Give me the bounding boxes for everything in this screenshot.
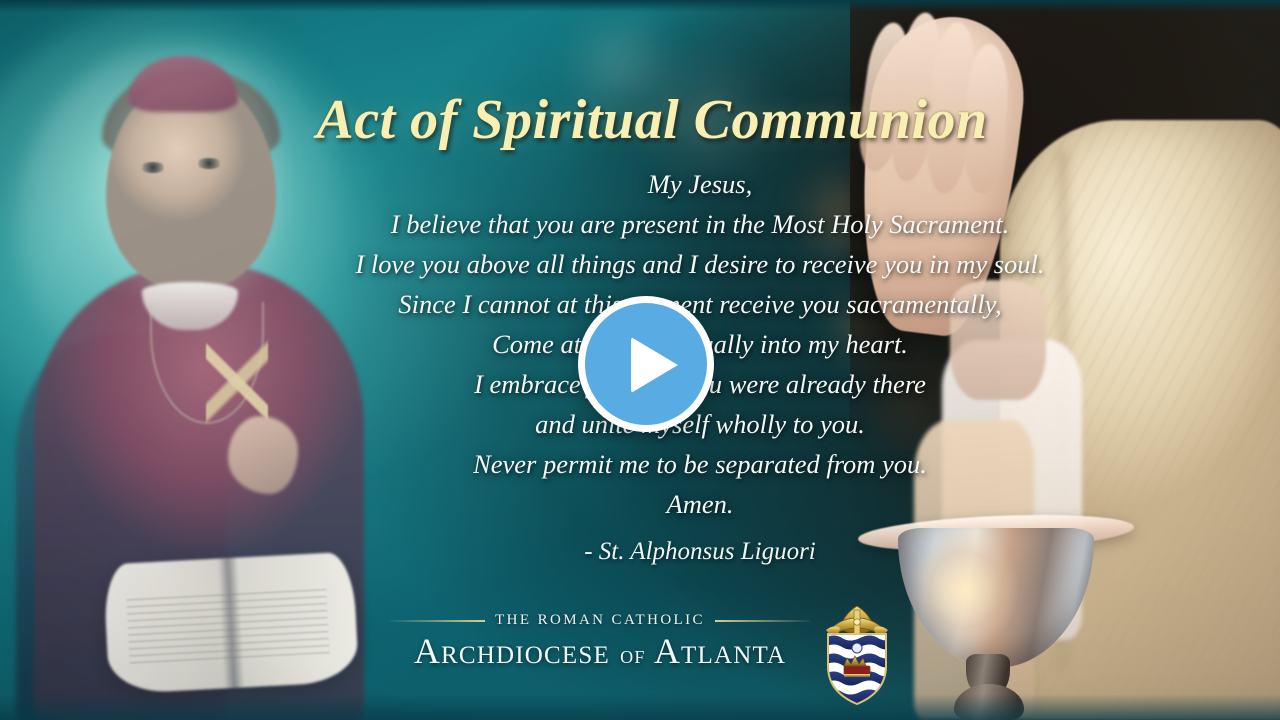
mitre-icon [826, 606, 888, 636]
logo-eyebrow-text: THE ROMAN CATHOLIC [495, 612, 705, 629]
logo-wordmark-of: of [620, 640, 645, 669]
logo-wordmark-archdiocese: Archdiocese [414, 631, 610, 671]
coat-of-arms-icon [814, 604, 900, 708]
play-button[interactable] [578, 296, 714, 432]
prayer-line: I love you above all things and I desire… [200, 244, 1200, 284]
prayer-line: Since I cannot at this moment receive yo… [200, 284, 1200, 324]
prayer-line: My Jesus, [200, 164, 1200, 204]
page-title: Act of Spiritual Communion [0, 88, 1280, 152]
shield-roundel [852, 643, 862, 653]
logo-wordmark-atlanta: Atlanta [654, 631, 786, 671]
text-overlay: Act of Spiritual Communion My Jesus, I b… [0, 0, 1280, 720]
prayer-line: and unite myself wholly to you. [200, 404, 1200, 444]
video-player-frame: Act of Spiritual Communion My Jesus, I b… [0, 0, 1280, 720]
logo-rule-right [715, 620, 810, 622]
logo-rule-left [390, 620, 485, 622]
prayer-attribution: - St. Alphonsus Liguori [200, 538, 1200, 566]
logo-eyebrow-row: THE ROMAN CATHOLIC [390, 612, 810, 629]
play-triangle-icon [631, 337, 678, 393]
prayer-line-amen: Amen. [200, 484, 1200, 524]
prayer-line: Never permit me to be separated from you… [200, 444, 1200, 484]
archdiocese-logo: THE ROMAN CATHOLIC Archdiocese of Atlant… [390, 612, 900, 710]
prayer-line: I believe that you are present in the Mo… [200, 204, 1200, 244]
logo-wordmark: Archdiocese of Atlanta [390, 630, 810, 672]
